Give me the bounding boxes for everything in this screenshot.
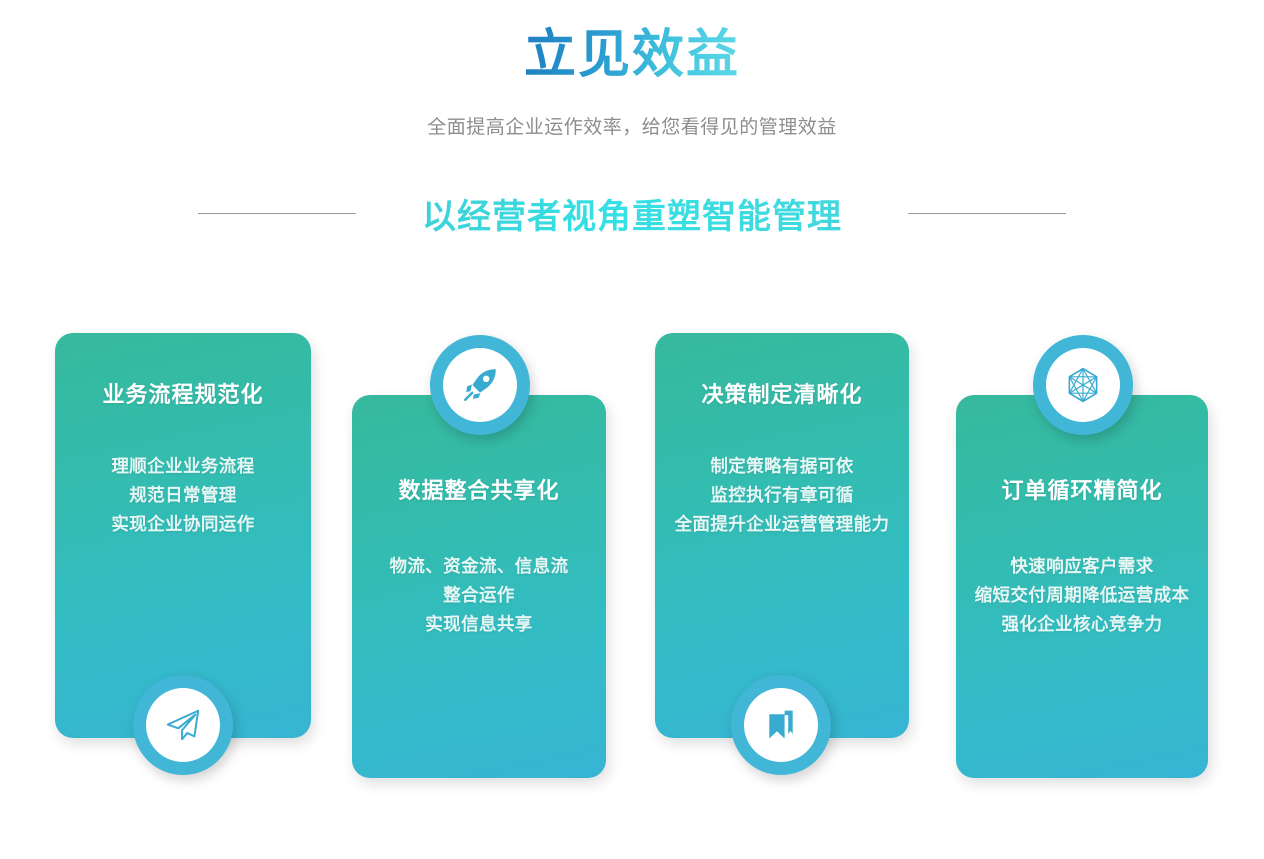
feature-card-data-integration[interactable]: 数据整合共享化 物流、资金流、信息流 整合运作 实现信息共享	[352, 395, 606, 778]
icon-disc	[146, 688, 220, 762]
card-body: 物流、资金流、信息流 整合运作 实现信息共享	[390, 552, 569, 639]
page-subtitle: 全面提高企业运作效率，给您看得见的管理效益	[0, 86, 1264, 139]
card-title: 数据整合共享化	[398, 477, 559, 506]
card-icon-badge-4	[1033, 335, 1133, 435]
card-body: 快速响应客户需求 缩短交付周期降低运营成本 强化企业核心竞争力	[975, 552, 1190, 639]
page-title: 立见效益	[524, 24, 740, 86]
paper-plane-icon	[164, 706, 202, 744]
rocket-icon	[461, 366, 499, 404]
card-icon-badge-1	[133, 675, 233, 775]
card-icon-badge-2	[430, 335, 530, 435]
card-title: 业务流程规范化	[102, 381, 263, 410]
hexagon-network-icon	[1063, 365, 1103, 405]
divider-line-left	[198, 213, 356, 214]
card-title: 订单循环精简化	[1001, 477, 1162, 506]
icon-disc	[1046, 348, 1120, 422]
card-title: 决策制定清晰化	[701, 381, 862, 410]
icon-disc	[443, 348, 517, 422]
card-body: 制定策略有据可依 监控执行有章可循 全面提升企业运营管理能力	[675, 452, 890, 539]
card-icon-badge-3	[731, 675, 831, 775]
feature-card-order-cycle[interactable]: 订单循环精简化 快速响应客户需求 缩短交付周期降低运营成本 强化企业核心竞争力	[956, 395, 1208, 778]
divider-line-right	[908, 213, 1066, 214]
section-heading: 以经营者视角重塑智能管理	[422, 189, 842, 238]
section-heading-row: 以经营者视角重塑智能管理	[0, 183, 1264, 243]
icon-disc	[744, 688, 818, 762]
bookmark-icon	[763, 707, 799, 743]
card-body: 理顺企业业务流程 规范日常管理 实现企业协同运作	[111, 452, 254, 539]
feature-card-grid: 业务流程规范化 理顺企业业务流程 规范日常管理 实现企业协同运作 数据整合共享化…	[0, 300, 1264, 820]
hero-section: 立见效益 全面提高企业运作效率，给您看得见的管理效益	[0, 0, 1264, 139]
